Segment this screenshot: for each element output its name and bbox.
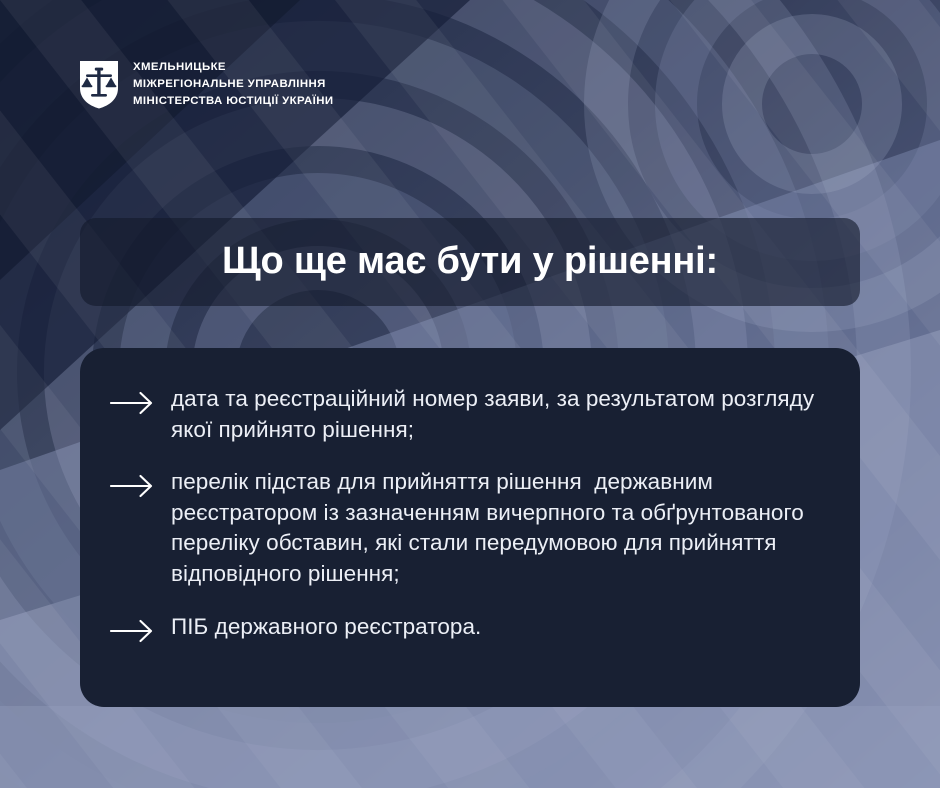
list-item: дата та реєстраційний номер заяви, за ре… [110, 384, 826, 445]
list-item-text: ПІБ державного реєстратора. [171, 612, 481, 643]
list-item: перелік підстав для прийняття рішення де… [110, 467, 826, 589]
content-panel: дата та реєстраційний номер заяви, за ре… [80, 348, 860, 707]
list-item-text: дата та реєстраційний номер заяви, за ре… [171, 384, 826, 445]
page-title: Що ще має бути у рішенні: [222, 241, 718, 283]
list-item-text: перелік підстав для прийняття рішення де… [171, 467, 826, 589]
arrow-right-icon [110, 390, 155, 416]
requirements-list: дата та реєстраційний номер заяви, за ре… [110, 384, 826, 644]
brand-line-3: МІНІСТЕРСТВА ЮСТИЦІЇ УКРАЇНИ [133, 94, 333, 109]
brand-line-1: ХМЕЛЬНИЦЬКЕ [133, 60, 333, 75]
arrow-right-icon [110, 618, 155, 644]
brand-lockup: ХМЕЛЬНИЦЬКЕ МІЖРЕГІОНАЛЬНЕ УПРАВЛІННЯ МІ… [78, 58, 333, 110]
shield-scales-of-justice-icon [78, 58, 120, 110]
list-item: ПІБ державного реєстратора. [110, 612, 826, 644]
brand-line-2: МІЖРЕГІОНАЛЬНЕ УПРАВЛІННЯ [133, 77, 333, 92]
title-panel: Що ще має бути у рішенні: [80, 218, 860, 306]
slide-canvas: ХМЕЛЬНИЦЬКЕ МІЖРЕГІОНАЛЬНЕ УПРАВЛІННЯ МІ… [0, 0, 940, 788]
arrow-right-icon [110, 473, 155, 499]
brand-text-block: ХМЕЛЬНИЦЬКЕ МІЖРЕГІОНАЛЬНЕ УПРАВЛІННЯ МІ… [133, 59, 333, 110]
